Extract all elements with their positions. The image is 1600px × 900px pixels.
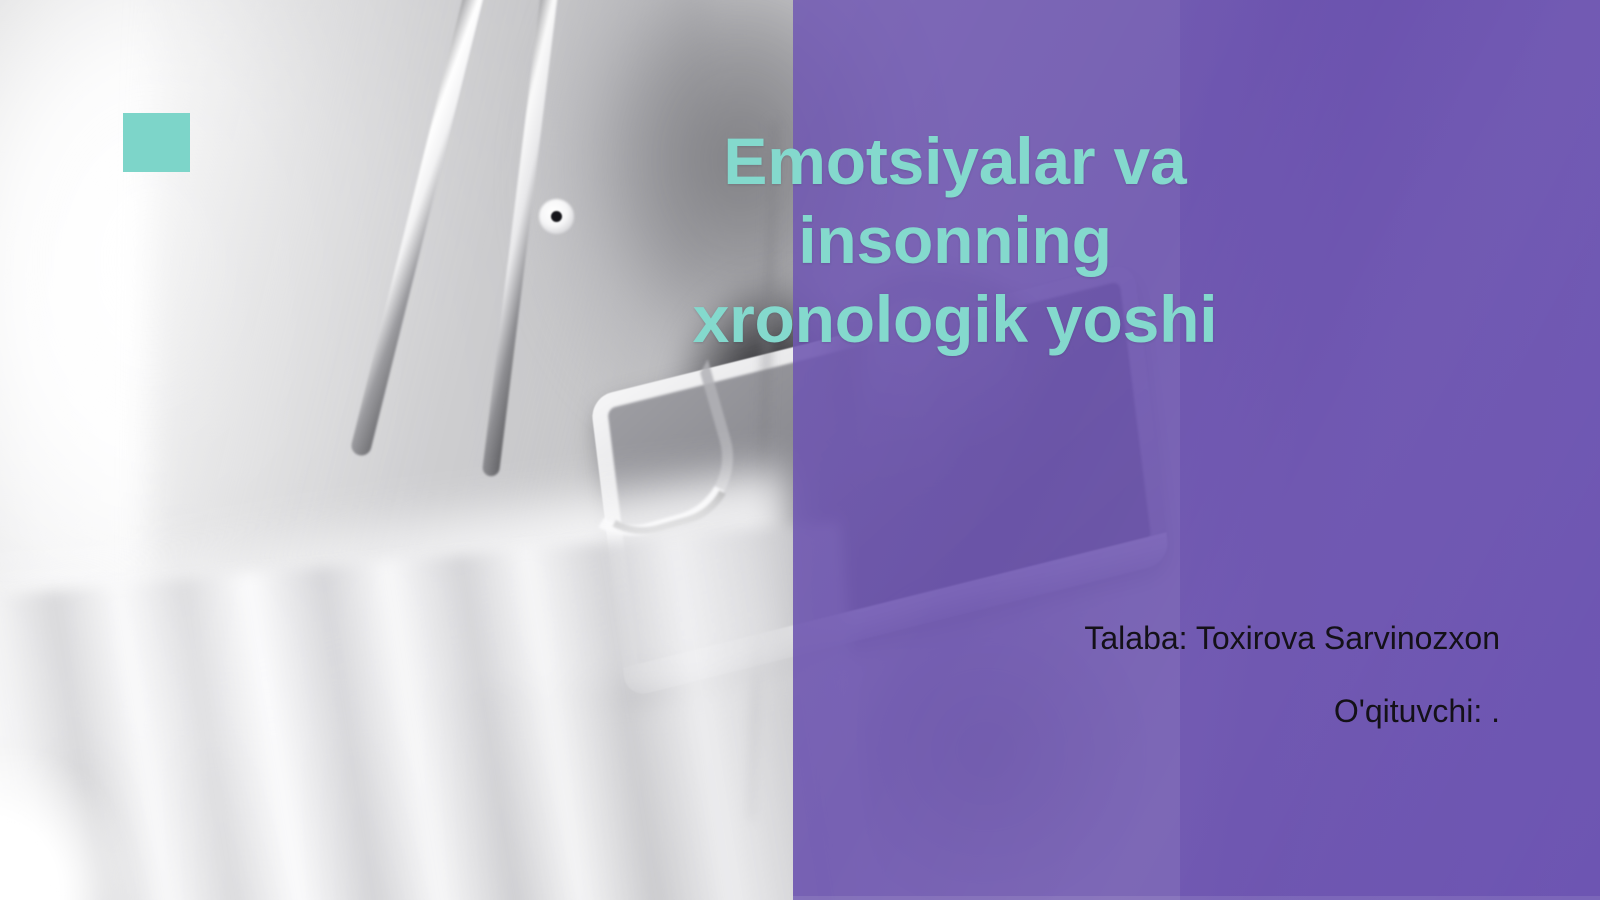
photo-white-corner xyxy=(0,730,170,900)
subtitle-student-line: Talaba: Toxirova Sarvinozxon xyxy=(860,622,1500,654)
title-slide: Emotsiyalar va insonning xronologik yosh… xyxy=(0,0,1600,900)
slide-title: Emotsiyalar va insonning xronologik yosh… xyxy=(560,122,1350,360)
subtitle-teacher-line: O'qituvchi: . xyxy=(860,695,1500,727)
teal-accent-square xyxy=(123,113,190,172)
slide-subtitle-block: Talaba: Toxirova Sarvinozxon O'qituvchi:… xyxy=(860,622,1500,727)
